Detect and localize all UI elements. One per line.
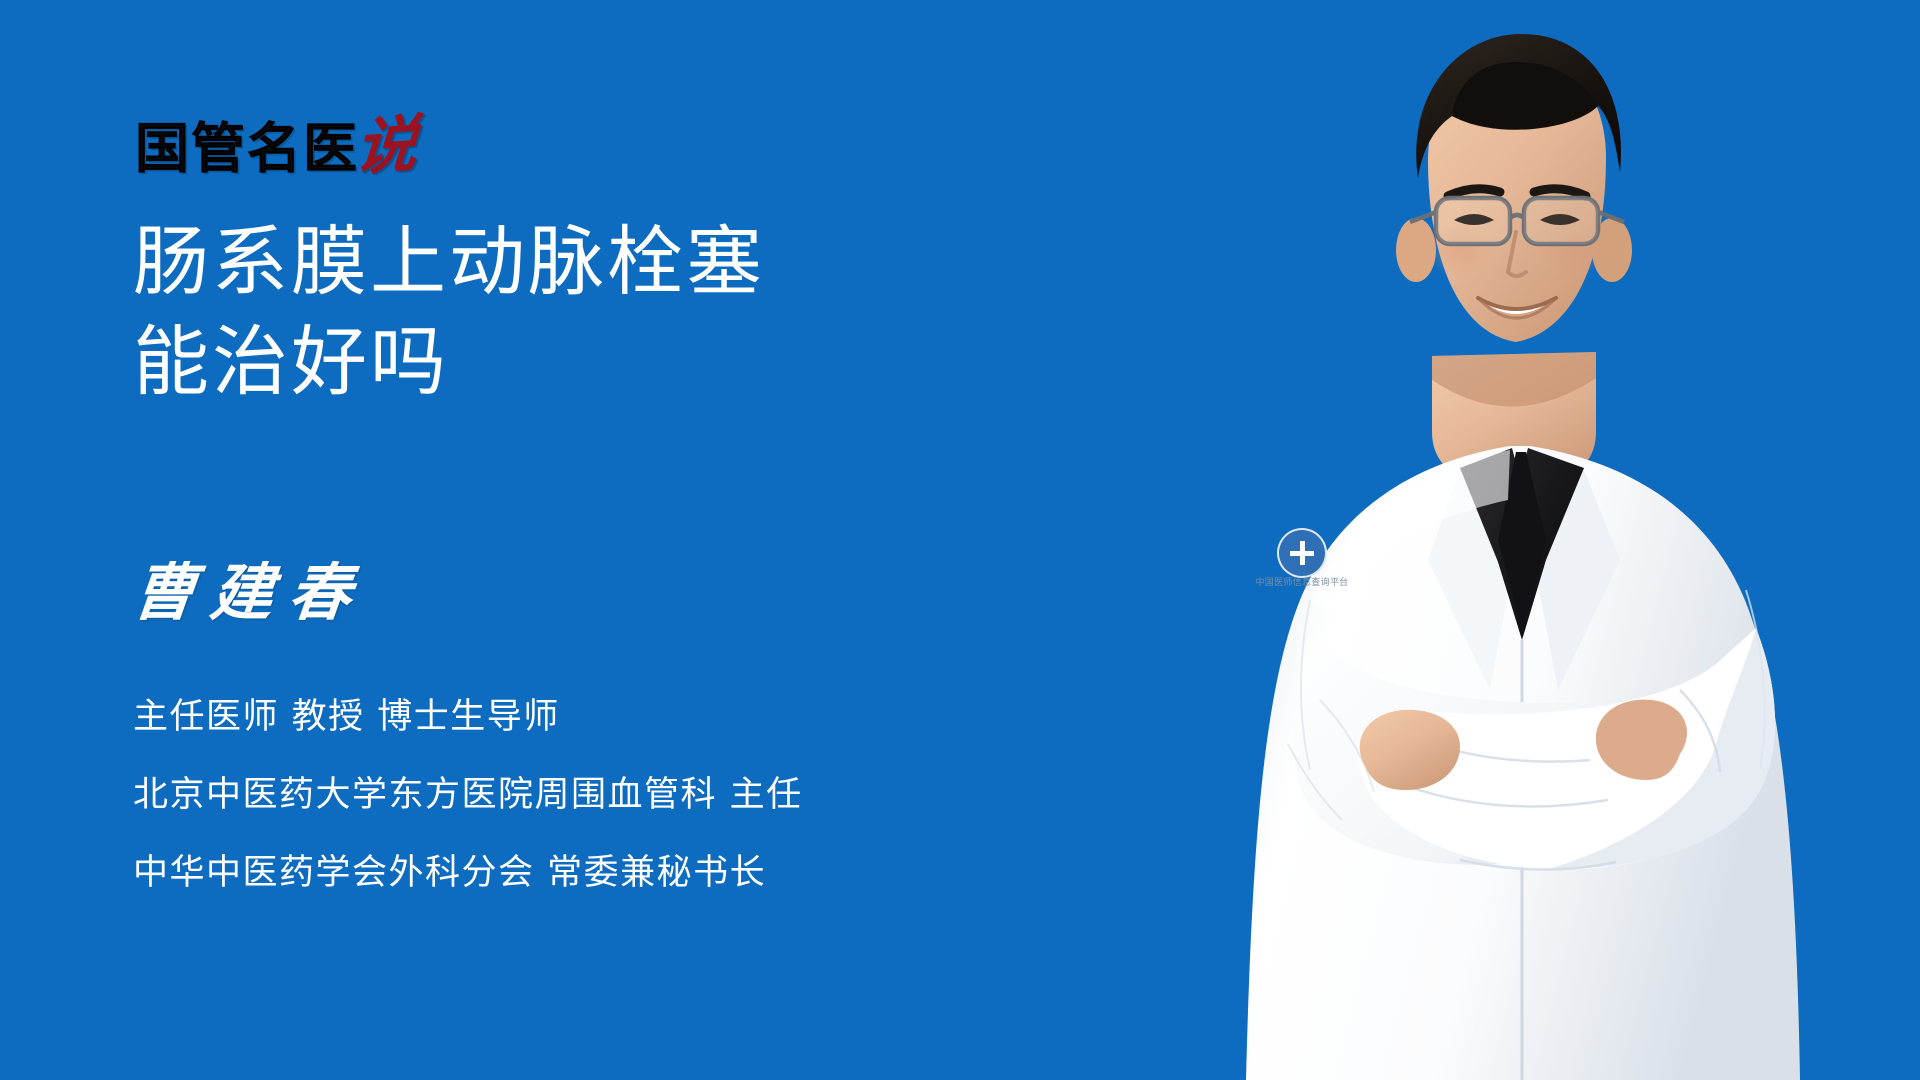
brand-logo-main-text: 国管名医 <box>135 122 359 176</box>
brand-logo: 国管名医 说 <box>135 106 417 176</box>
doctor-name: 曹建春 <box>130 562 371 624</box>
credential-line-3: 中华中医药学会外科分会 常委兼秘书长 <box>133 856 1083 891</box>
brand-logo-accent-text: 说 <box>353 115 420 178</box>
doctor-credentials: 主任医师 教授 博士生导师 北京中医药大学东方医院周围血管科 主任 中华中医药学… <box>133 700 1083 934</box>
title-line-2: 能治好吗 <box>133 312 1053 412</box>
page-title: 肠系膜上动脉栓塞 能治好吗 <box>133 212 1053 413</box>
credential-line-2: 北京中医药大学东方医院周围血管科 主任 <box>133 778 1083 813</box>
text-panel: 国管名医 说 肠系膜上动脉栓塞 能治好吗 曹建春 主任医师 教授 博士生导师 北… <box>0 0 1120 1080</box>
title-line-1: 肠系膜上动脉栓塞 <box>133 212 1053 312</box>
thumbnail-stage: 中国医师信息查询平台 国管名医 说 肠系膜上动脉栓塞 能治好吗 曹建春 主任医师… <box>0 0 1920 1080</box>
doctor-portrait-image <box>1160 0 1920 1080</box>
credential-line-1: 主任医师 教授 博士生导师 <box>133 700 1083 735</box>
